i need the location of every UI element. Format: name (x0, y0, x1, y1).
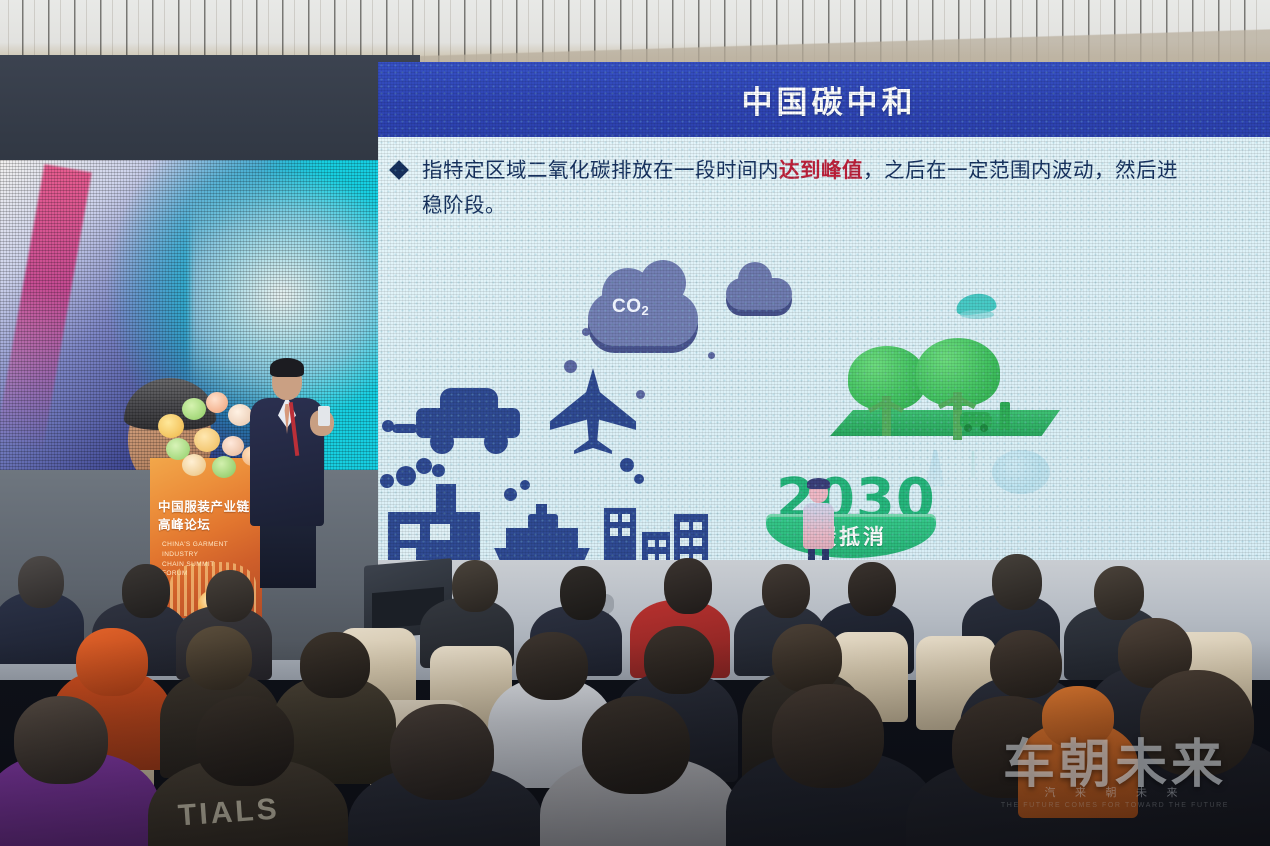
attendee-head (14, 696, 108, 784)
factory-smoke-icon (396, 466, 416, 486)
attendee-head (664, 558, 712, 614)
presenter-remote-icon (318, 406, 330, 426)
charging-post-icon (1000, 402, 1010, 430)
co2-label-sub: 2 (642, 303, 650, 318)
plane-trail-icon (620, 458, 634, 472)
bullet-text-highlight: 达到峰值 (779, 158, 863, 182)
ship-smoke-icon (520, 480, 530, 490)
small-cloud-icon (726, 278, 792, 310)
co2-label-main: CO (612, 296, 642, 317)
ship-funnel-icon (536, 504, 547, 518)
attendee-head (848, 562, 896, 616)
jacket-text: TIALS (177, 792, 281, 833)
globe-icon (992, 450, 1050, 494)
attendee-head (992, 554, 1042, 610)
attendee-hair (1042, 686, 1114, 748)
cloud-dot (708, 352, 715, 359)
conference-photo-scene: 中国碳中和 指特定区域二氧化碳排放在一段时间内达到峰值，之后在一定范围内波动，然… (0, 0, 1270, 846)
slide-title-bar: 中国碳中和 (378, 62, 1270, 137)
factory-smoke-icon (380, 474, 394, 488)
wind-turbine-icon (960, 444, 986, 478)
attendee-head (990, 630, 1062, 698)
slide-bullet-row: 指特定区域二氧化碳排放在一段时间内达到峰值，之后在一定范围内波动，然后进 (392, 154, 1270, 187)
attendee-head (516, 632, 588, 700)
slide-bullet-line1: 指特定区域二氧化碳排放在一段时间内达到峰值，之后在一定范围内波动，然后进 (422, 154, 1178, 187)
ev-wheel-icon (980, 424, 988, 432)
podium-banner-line1: 中国服装产业链 (158, 498, 256, 516)
ev-wheel-icon (964, 424, 972, 432)
attendee-head (452, 560, 498, 612)
airplane-icon (550, 368, 636, 454)
car-wheel-icon (430, 430, 454, 454)
presenter-hair (270, 358, 304, 377)
attendee-head (1140, 670, 1254, 776)
bullet-text-before: 指特定区域二氧化碳排放在一段时间内 (422, 158, 779, 182)
attendee-hair (76, 628, 148, 696)
attendee-head (772, 684, 884, 788)
attendee-head (1094, 566, 1144, 620)
attendee-head (196, 696, 294, 786)
slide-title: 中国碳中和 (742, 77, 917, 122)
person-hair (807, 478, 830, 489)
car-exhaust-puff-icon (382, 420, 394, 432)
attendee-head (206, 570, 254, 622)
factory-smoke-icon (432, 464, 445, 477)
ship-smoke-icon (504, 488, 517, 501)
attendee-head (122, 564, 170, 618)
cloud-dot (582, 328, 590, 336)
attendee-head (560, 566, 606, 620)
factory-smoke-icon (416, 458, 432, 474)
factory-chimney-icon (436, 484, 456, 518)
audience-area: TIALS (0, 520, 1270, 846)
diamond-bullet-icon (389, 160, 409, 180)
attendee-head (644, 626, 714, 694)
attendee-head (18, 556, 64, 608)
car-exhaust-icon (392, 424, 418, 433)
attendee-head (762, 564, 810, 618)
floating-leaf-shadow (960, 310, 994, 319)
attendee-head (390, 704, 494, 800)
green-platform (830, 410, 1060, 436)
bullet-text-after: ，之后在一定范围内波动，然后进 (863, 158, 1178, 182)
co2-label: CO2 (612, 296, 649, 318)
attendee-head (772, 624, 842, 692)
cloud-dot (564, 360, 577, 373)
attendee-cap-icon (186, 626, 252, 690)
attendee-head (300, 632, 370, 698)
car-wheel-icon (484, 430, 508, 454)
cloud-dot (636, 390, 645, 399)
plane-trail-icon (634, 474, 644, 484)
attendee-head (582, 696, 690, 794)
